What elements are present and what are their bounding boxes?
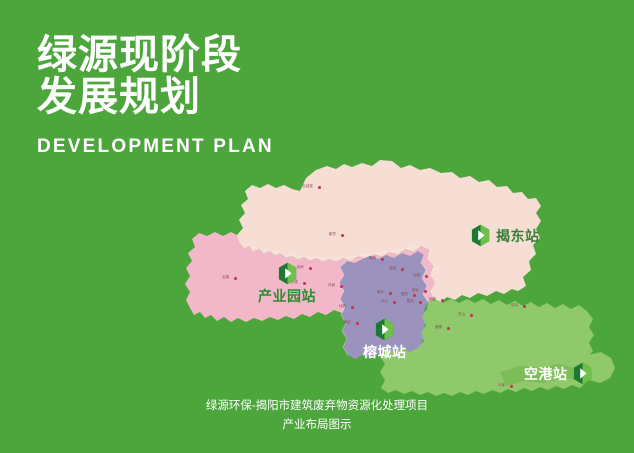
- city-dot-icon: [389, 292, 392, 295]
- city-label: 玉湖: [222, 275, 229, 280]
- city-dot-icon: [419, 301, 422, 304]
- title-block: 绿源现阶段 发展规划 DEVELOPMENT PLAN: [37, 34, 274, 158]
- city-label: 锡场: [369, 256, 376, 261]
- title-line-1: 绿源现阶段: [37, 34, 274, 76]
- city-label: 云路: [413, 273, 420, 278]
- city-label: 新亨: [329, 232, 336, 237]
- city-dot-icon: [234, 277, 237, 280]
- station-marker-jiedong[interactable]: 揭东站: [471, 224, 540, 247]
- station-marker-chanyeyuan[interactable]: 产业园站: [258, 262, 316, 306]
- city-dot-icon: [351, 306, 354, 309]
- city-label: 五经富: [302, 184, 313, 189]
- city-dot-icon: [393, 301, 396, 304]
- station-hex-icon: [278, 262, 297, 285]
- station-hex-icon: [471, 224, 490, 247]
- city-dot-icon: [523, 305, 526, 308]
- slide-canvas: 绿源现阶段 发展规划 DEVELOPMENT PLAN 产业园站 揭东站: [0, 0, 634, 453]
- city-label: 京冈: [511, 303, 518, 308]
- subtitle: DEVELOPMENT PLAN: [37, 136, 274, 158]
- city-label: 曲溪: [389, 266, 396, 271]
- city-label: 沙溪: [498, 383, 505, 388]
- city-dot-icon: [356, 322, 359, 325]
- city-label: 月城: [328, 283, 335, 288]
- city-dot-icon: [401, 268, 404, 271]
- city-dot-icon: [425, 275, 428, 278]
- city-dot-icon: [441, 299, 444, 302]
- station-label-konggang: 空港站: [524, 364, 568, 384]
- city-dot-icon: [510, 385, 513, 388]
- city-dot-icon: [318, 186, 321, 189]
- station-hex-icon: [573, 362, 592, 385]
- station-marker-rongcheng[interactable]: 榕城站: [363, 318, 407, 362]
- caption: 绿源环保-揭阳市建筑废弃物资源化处理项目 产业布局图示: [0, 397, 634, 435]
- city-label: 磐东: [377, 290, 384, 295]
- station-label-chanyeyuan: 产业园站: [258, 286, 316, 306]
- city-dot-icon: [340, 285, 343, 288]
- city-label: 炮台: [412, 288, 419, 293]
- city-label: 渔湖: [435, 325, 442, 330]
- caption-line-2: 产业布局图示: [0, 416, 634, 435]
- station-label-rongcheng: 榕城站: [363, 342, 407, 362]
- city-dot-icon: [424, 290, 427, 293]
- city-label: 登岗: [401, 292, 408, 297]
- city-dot-icon: [413, 294, 416, 297]
- city-label: 榕东: [407, 299, 414, 304]
- title-line-2: 发展规划: [37, 76, 274, 118]
- city-label: 梅云: [344, 320, 351, 325]
- station-label-jiedong: 揭东站: [496, 226, 540, 246]
- station-marker-konggang[interactable]: 空港站: [524, 362, 592, 385]
- station-hex-icon: [375, 318, 394, 341]
- city-dot-icon: [447, 327, 450, 330]
- city-dot-icon: [470, 314, 473, 317]
- city-label: 地都: [429, 297, 436, 302]
- city-label: 东山: [458, 312, 465, 317]
- city-dot-icon: [341, 234, 344, 237]
- caption-line-1: 绿源环保-揭阳市建筑废弃物资源化处理项目: [0, 397, 634, 416]
- city-label: 中山: [381, 299, 388, 304]
- city-label: 仙桥: [339, 304, 346, 309]
- city-dot-icon: [381, 258, 384, 261]
